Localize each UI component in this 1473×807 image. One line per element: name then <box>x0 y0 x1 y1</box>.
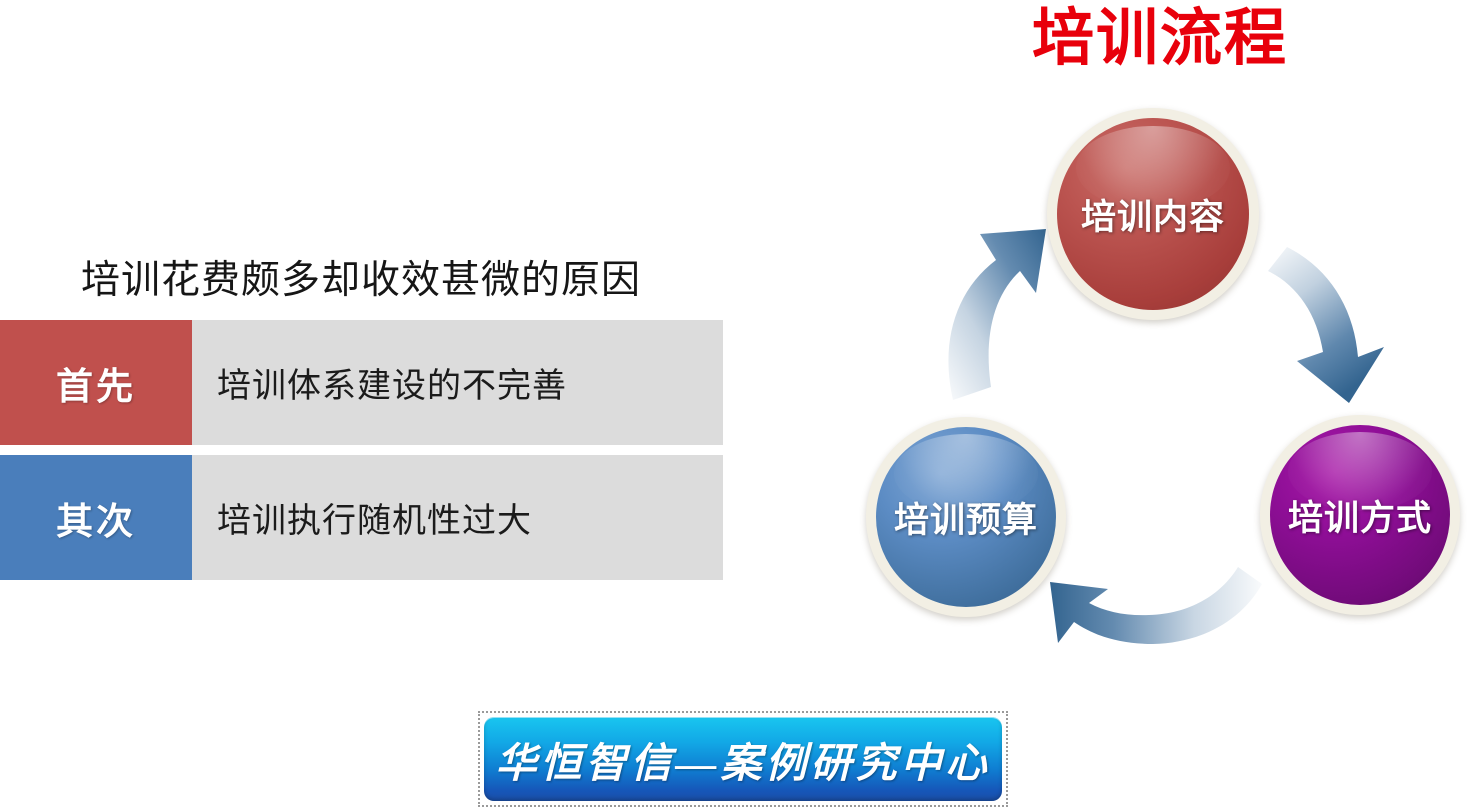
cycle-diagram: 培训内容 培训方式 培训预算 <box>850 95 1473 665</box>
cycle-node-budget[interactable]: 培训预算 <box>866 417 1066 617</box>
cycle-node-method-label: 培训方式 <box>1288 490 1432 541</box>
cycle-node-content-sphere: 培训内容 <box>1057 118 1249 310</box>
cycle-node-budget-label: 培训预算 <box>894 492 1038 543</box>
reasons-table: 首先 培训体系建设的不完善 其次 培训执行随机性过大 <box>0 320 723 590</box>
footer-banner-label: 华恒智信—案例研究中心 <box>496 729 991 789</box>
section-heading: 培训花费颇多却收效甚微的原因 <box>81 249 641 305</box>
table-row: 其次 培训执行随机性过大 <box>0 455 723 580</box>
arrow-content-to-method <box>1268 247 1384 403</box>
footer-banner-surface: 华恒智信—案例研究中心 <box>484 717 1002 801</box>
arrow-method-to-budget <box>1050 567 1262 644</box>
cycle-node-budget-sphere: 培训预算 <box>876 427 1056 607</box>
cycle-node-content[interactable]: 培训内容 <box>1047 108 1259 320</box>
cycle-node-method[interactable]: 培训方式 <box>1260 415 1460 615</box>
table-row: 首先 培训体系建设的不完善 <box>0 320 723 445</box>
arrow-budget-to-content <box>948 229 1046 400</box>
page-title: 培训流程 <box>1032 6 1332 71</box>
footer-banner[interactable]: 华恒智信—案例研究中心 <box>478 711 1008 807</box>
row-label-badge: 首先 <box>0 320 192 445</box>
cycle-node-method-sphere: 培训方式 <box>1270 425 1450 605</box>
row-text: 培训执行随机性过大 <box>192 455 723 580</box>
row-label-badge: 其次 <box>0 455 192 580</box>
row-text: 培训体系建设的不完善 <box>192 320 723 445</box>
cycle-node-content-label: 培训内容 <box>1081 189 1225 240</box>
